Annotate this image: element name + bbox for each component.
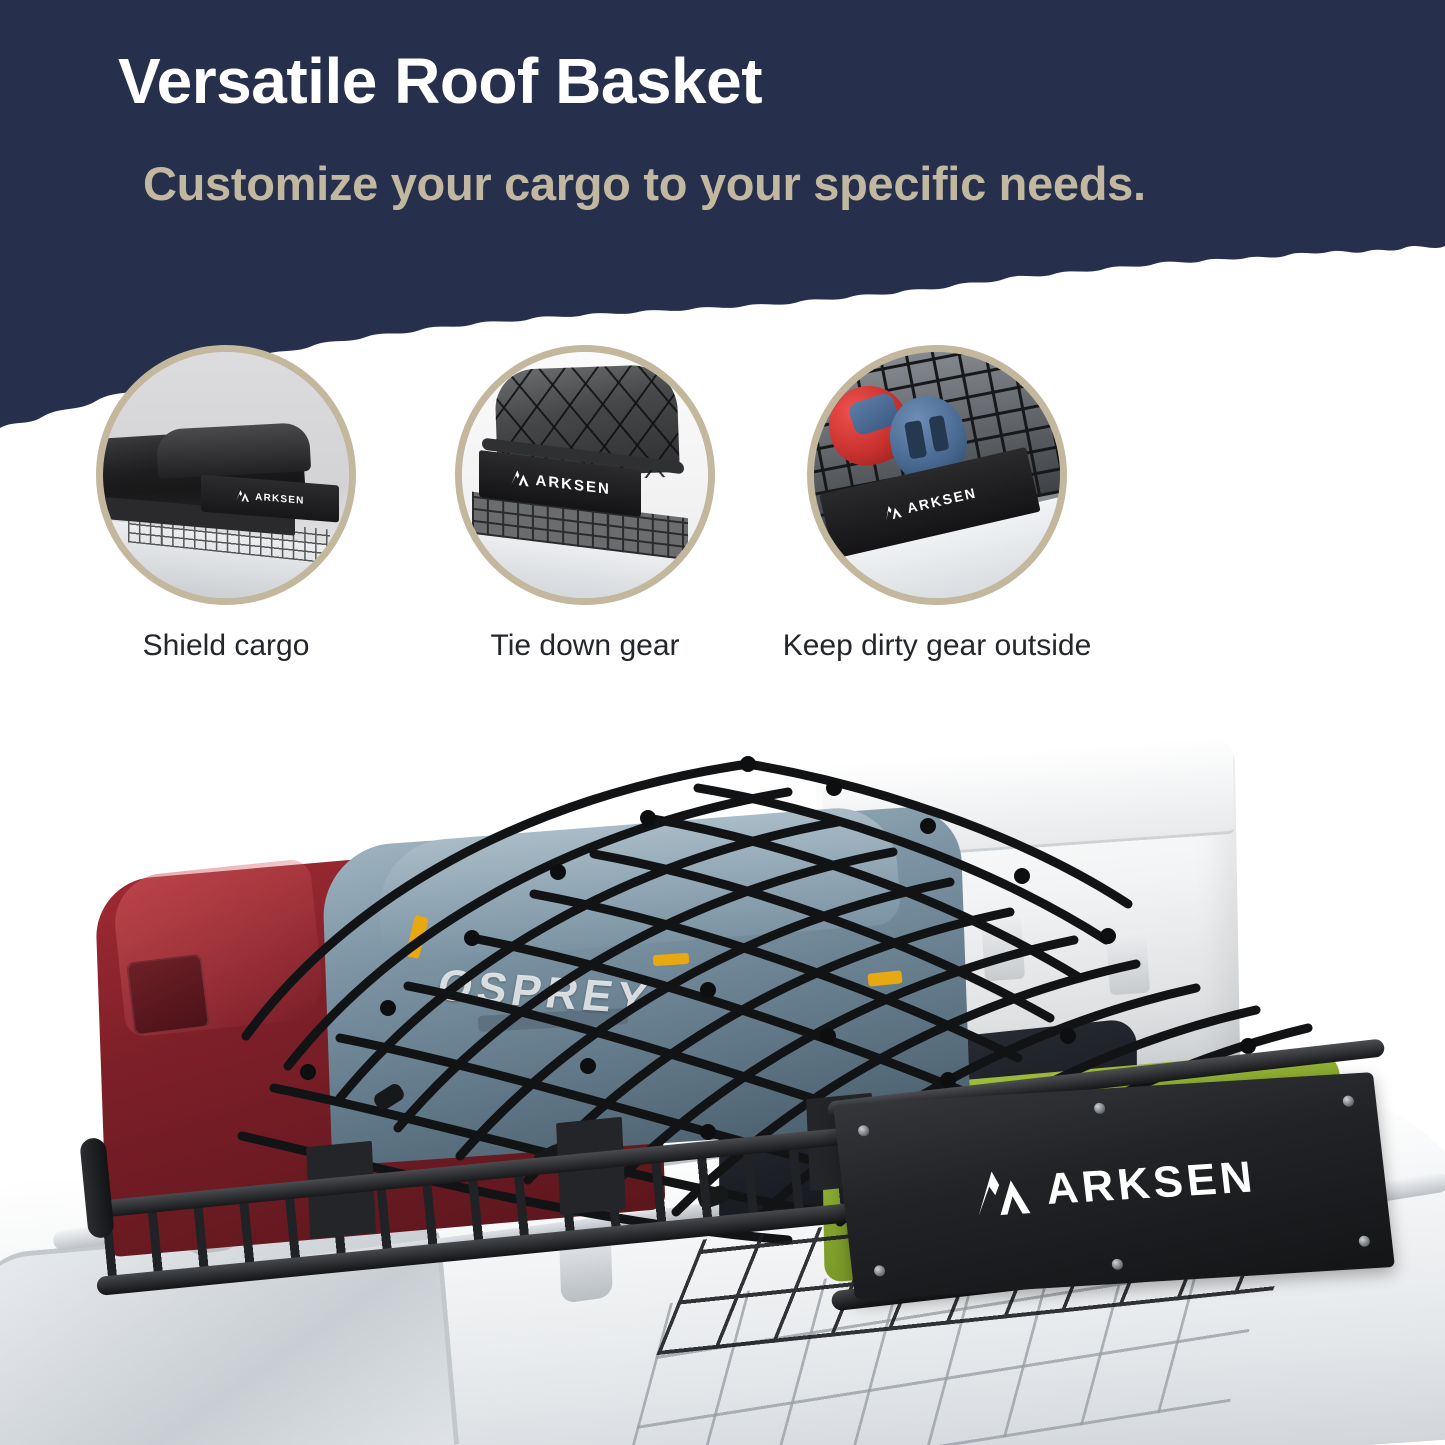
feature-thumbnail-row: ARKSEN Shield cargo ARKSEN Tie	[0, 345, 1445, 725]
feature-item-shield-cargo: ARKSEN Shield cargo	[26, 345, 426, 665]
roof-cargo-basket: OSPREY	[78, 740, 1378, 1380]
plate-screw	[873, 1265, 885, 1277]
feature-image-shield-cargo: ARKSEN	[96, 345, 356, 605]
arksen-brand-text: ARKSEN	[256, 492, 305, 507]
arksen-brand-text: ARKSEN	[905, 485, 978, 517]
feature-caption-shield-cargo: Shield cargo	[26, 627, 426, 665]
arksen-brand-text: ARKSEN	[536, 472, 611, 498]
plate-screw	[1342, 1095, 1354, 1107]
plate-screw	[1094, 1103, 1106, 1115]
arksen-logo-icon	[236, 490, 251, 503]
arksen-logo-icon	[881, 503, 903, 522]
feature-image-keep-dirty-gear: ARKSEN	[807, 345, 1067, 605]
plate-screw	[1111, 1259, 1123, 1271]
arksen-logo-icon	[969, 1167, 1034, 1218]
feature-caption-tie-down-gear: Tie down gear	[385, 627, 785, 665]
feature-item-keep-dirty-gear: ARKSEN Keep dirty gear outside	[737, 345, 1137, 665]
plate-screw	[858, 1125, 870, 1137]
plate-screw	[1358, 1235, 1370, 1247]
page-subtitle: Customize your cargo to your specific ne…	[143, 155, 1273, 212]
arksen-brand-text: ARKSEN	[1043, 1152, 1258, 1215]
red-bag-pocket	[126, 954, 210, 1037]
cooler-latch	[1106, 931, 1150, 996]
arksen-brand-plate: ARKSEN	[833, 1072, 1395, 1300]
page-title: Versatile Roof Basket	[118, 48, 762, 115]
feature-image-tie-down-gear: ARKSEN	[455, 345, 715, 605]
feature-item-tie-down-gear: ARKSEN Tie down gear	[385, 345, 785, 665]
hero-product-image: OSPREY	[0, 700, 1445, 1445]
arksen-logo-icon	[510, 469, 530, 487]
feature-caption-keep-dirty-gear: Keep dirty gear outside	[737, 627, 1137, 665]
cooler-latch	[981, 917, 1025, 982]
